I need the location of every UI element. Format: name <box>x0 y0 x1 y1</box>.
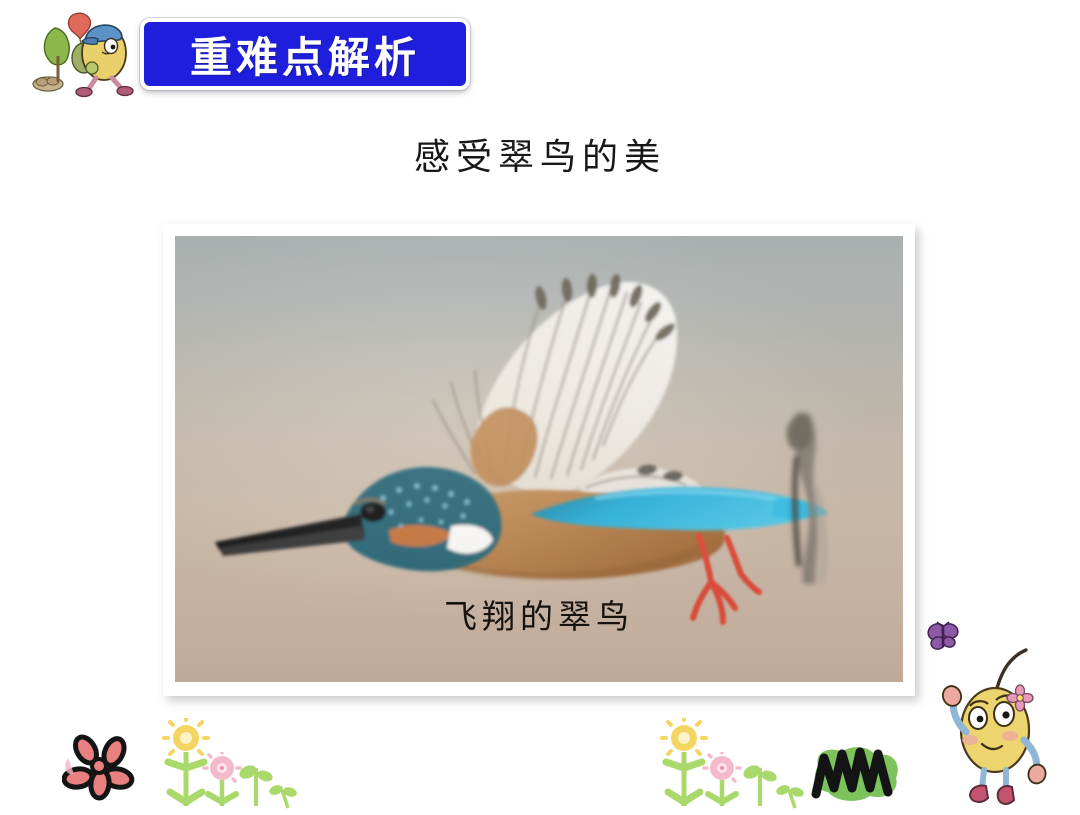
photo-frame: 飞翔的翠鸟 <box>163 224 915 696</box>
pink-flower-icon <box>62 732 140 804</box>
section-banner: 重难点解析 <box>140 18 470 90</box>
section-banner-label: 重难点解析 <box>190 24 420 85</box>
sprout-small-icon-2 <box>775 776 807 810</box>
slide-canvas: 重难点解析 感受翠鸟的美 <box>0 0 1080 810</box>
page-title: 感受翠鸟的美 <box>0 128 1080 180</box>
green-grass-scribble-icon <box>808 738 904 804</box>
sprout-icon-2 <box>740 760 780 808</box>
hiking-egg-mascot-icon <box>22 6 142 98</box>
photo-caption: 飞翔的翠鸟 <box>175 590 903 638</box>
waving-egg-girl-mascot-icon <box>940 648 1058 810</box>
sprout-small-icon <box>268 776 300 810</box>
kingfisher-photo: 飞翔的翠鸟 <box>175 236 903 682</box>
